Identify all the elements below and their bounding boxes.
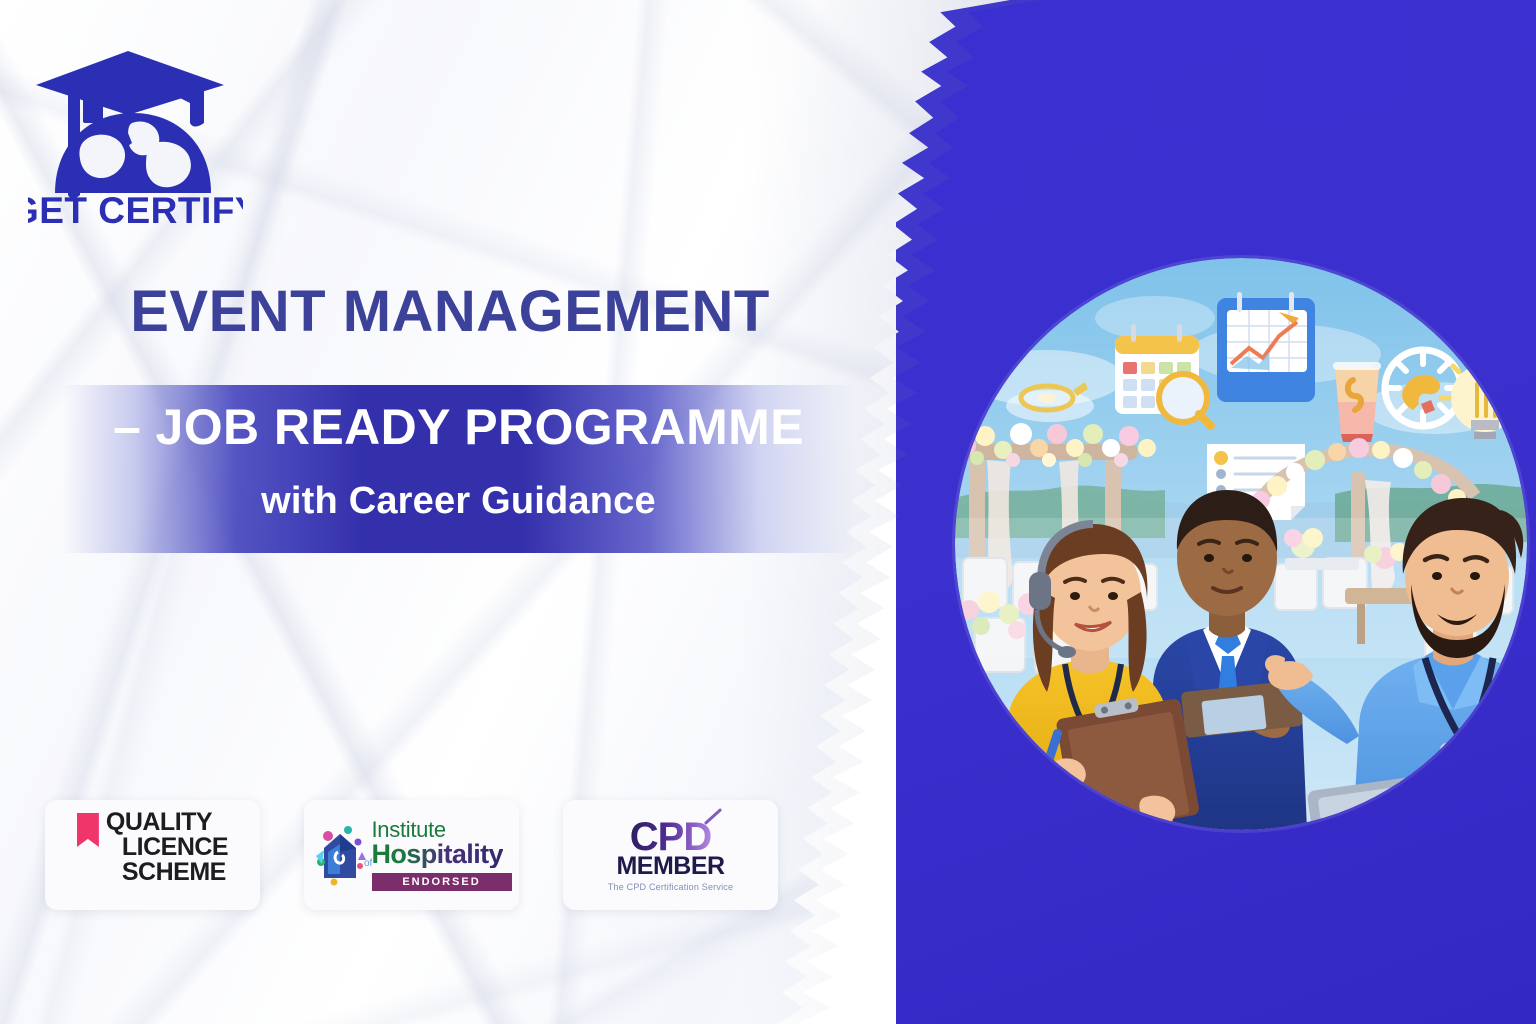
badge-cpd-member[interactable]: CPD MEMBER The CPD Certification Service [563, 800, 778, 910]
badge-institute-of-hospitality[interactable]: Institute Hospitality ENDORSED of [304, 800, 519, 910]
cpd-line-3: The CPD Certification Service [608, 882, 733, 892]
marketing-banner: GET CERTIFY EVENT MANAGEMENT – JOB READY… [0, 0, 1536, 1024]
brand-logo[interactable]: GET CERTIFY [28, 45, 243, 230]
accreditation-badges: QUALITY LICENCE SCHEME [45, 800, 778, 910]
cpd-line-1: CPD [630, 819, 711, 855]
qls-line-1: QUALITY [106, 810, 228, 835]
event-management-team-circle [955, 258, 1527, 830]
ioh-endorsed-badge: ENDORSED [372, 873, 512, 891]
ioh-connector: of [364, 858, 372, 869]
logo-wordmark: GET CERTIFY [28, 190, 243, 230]
qls-line-2: LICENCE [106, 835, 228, 860]
headline-primary: EVENT MANAGEMENT [0, 282, 880, 343]
headline-tagline: with Career Guidance [62, 482, 855, 520]
bookmark-ribbon-icon [77, 813, 99, 847]
ioh-line-2: Hospitality [372, 841, 503, 868]
ioh-line-1: Institute [372, 819, 446, 841]
qls-line-3: SCHEME [106, 860, 228, 885]
headline-secondary: – JOB READY PROGRAMME [62, 402, 855, 452]
hospitality-crest-icon [312, 822, 368, 888]
badge-quality-licence-scheme[interactable]: QUALITY LICENCE SCHEME [45, 800, 260, 910]
headline-block: EVENT MANAGEMENT – JOB READY PROGRAMME w… [0, 282, 900, 343]
